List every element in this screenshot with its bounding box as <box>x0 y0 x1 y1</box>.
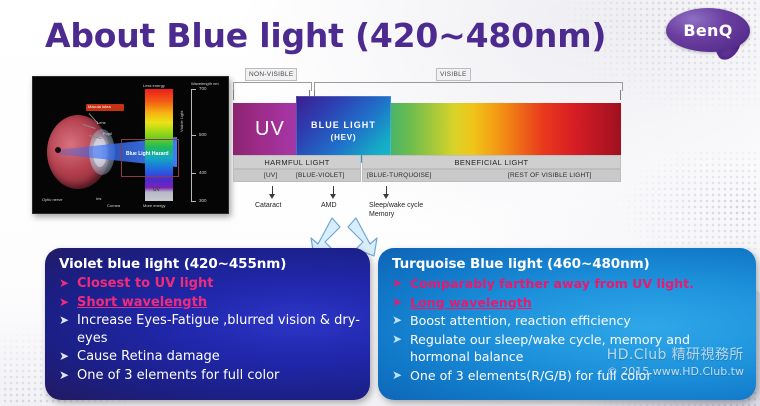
bullet-arrow-icon: ➤ <box>59 275 69 293</box>
bracket-label-non-visible: NON-VISIBLE <box>245 68 297 81</box>
blue-light-hazard-label: Blue Light Hazard <box>126 151 169 157</box>
bullet-arrow-icon: ➤ <box>392 312 402 330</box>
more-energy-label: More energy <box>143 203 165 208</box>
bullet-arrow-icon: ➤ <box>392 275 402 293</box>
bracket-tick <box>233 90 234 100</box>
uv-region-label: UV <box>255 118 285 141</box>
list-item-text: One of 3 elements(R/G/B) for full color <box>410 368 652 383</box>
sub-label-rest-visible: [REST OF VISIBLE LIGHT] <box>508 172 592 179</box>
benq-logo: BenQ <box>666 8 750 56</box>
visible-light-label: Visible Light <box>179 111 184 133</box>
macula-lutea-label: Macula lutea <box>88 104 111 109</box>
list-item-text: Cause Retina damage <box>77 349 220 364</box>
list-item: ➤ Comparably farther away from UV light. <box>388 275 748 293</box>
list-item: ➤ Increase Eyes-Fatigue ,blurred vision … <box>55 312 362 347</box>
uv-band-label: UV <box>153 187 160 193</box>
list-item-text: Short wavelength <box>77 295 207 310</box>
list-item: ➤ Long wavelength <box>388 294 748 312</box>
sub-band-visible: [BLUE-TURQUOISE] [REST OF VISIBLE LIGHT] <box>362 169 621 182</box>
effect-arrow-sleep <box>382 186 391 199</box>
list-item-text: Increase Eyes-Fatigue ,blurred vision & … <box>77 313 360 346</box>
light-spectrum-diagram: NON-VISIBLE VISIBLE UV BLUE LIGHT (HEV) … <box>233 74 621 224</box>
effect-label-amd: AMD <box>321 201 337 210</box>
blue-light-hev-box: BLUE LIGHT (HEV) <box>296 96 391 163</box>
bullet-arrow-icon: ➤ <box>392 294 402 312</box>
violet-panel-heading: Violet blue light (420~455nm) <box>59 256 286 272</box>
hev-title-line1: BLUE LIGHT <box>296 120 391 130</box>
axis-tick-label-700: 700 <box>199 86 207 91</box>
beneficial-light-band: BENEFICIAL LIGHT <box>362 155 621 169</box>
bullet-arrow-icon: ➤ <box>59 348 69 366</box>
bullet-arrow-icon: ➤ <box>392 367 402 385</box>
axis-tick <box>191 89 196 90</box>
axis-tick-label-500: 500 <box>199 132 207 137</box>
violet-panel-list: ➤ Closest to UV light ➤ Short wavelength… <box>55 275 362 385</box>
bracket-tick <box>620 90 621 100</box>
bullet-arrow-icon: ➤ <box>59 312 69 330</box>
macula-point <box>55 147 61 153</box>
page-title: About Blue light (420~480nm) <box>45 16 606 55</box>
logo-wordmark: BenQ <box>666 8 750 52</box>
axis-tick-label-300: 300 <box>199 198 207 203</box>
list-item: ➤ Boost attention, reaction efficiency <box>388 312 748 330</box>
list-item: ➤ Short wavelength <box>55 294 362 312</box>
list-item: ➤ Closest to UV light <box>55 275 362 293</box>
sub-label-blue-turquoise: [BLUE-TURQUOISE] <box>367 172 432 179</box>
slide-canvas: About Blue light (420~480nm) BenQ Macula… <box>0 0 760 406</box>
effect-arrow-amd <box>329 186 338 199</box>
sub-label-uv: [UV] <box>264 172 277 179</box>
list-item: ➤ Cause Retina damage <box>55 348 362 366</box>
bullet-arrow-icon: ➤ <box>392 331 402 349</box>
bracket-non-visible <box>233 82 312 91</box>
axis-tick <box>191 201 196 202</box>
list-item-text: Boost attention, reaction efficiency <box>410 313 631 328</box>
callout-lens: Lens <box>97 120 106 125</box>
effect-arrow-cataract <box>268 186 277 199</box>
effect-label-sleep-wake: Sleep/wake cycle <box>369 201 423 210</box>
list-item-text: Regulate our sleep/wake cycle, memory an… <box>410 332 690 365</box>
macula-lutea-tag: Macula lutea <box>86 104 124 111</box>
callout-cornea: Cornea <box>107 203 120 208</box>
list-item: ➤ One of 3 elements for full color <box>55 367 362 385</box>
axis-tick-label-400: 400 <box>199 170 207 175</box>
list-item-text: Closest to UV light <box>77 276 213 291</box>
harmful-light-band: HARMFUL LIGHT <box>233 155 361 169</box>
callout-pupil: Pupil <box>103 131 112 136</box>
callout-iris: Iris <box>96 196 101 201</box>
list-item: ➤ One of 3 elements(R/G/B) for full colo… <box>388 367 748 385</box>
effect-label-cataract: Cataract <box>255 201 281 210</box>
sub-label-blue-violet: [BLUE-VIOLET] <box>296 172 344 179</box>
sub-band-uv: [UV] [BLUE-VIOLET] <box>233 169 361 182</box>
less-energy-label: Less energy <box>143 83 165 88</box>
eye-anatomy-figure: Macula lutea Lens Pupil Iris Cornea Opti… <box>32 76 229 214</box>
list-item: ➤ Regulate our sleep/wake cycle, memory … <box>388 331 748 366</box>
hev-title-line2: (HEV) <box>296 133 391 142</box>
axis-tick <box>191 135 196 136</box>
bracket-visible <box>314 82 623 91</box>
spectrum-gradient-bar <box>233 103 621 155</box>
list-item-text: Long wavelength <box>410 295 532 310</box>
bullet-arrow-icon: ➤ <box>59 367 69 385</box>
wavelength-axis <box>191 89 192 201</box>
list-item-text: One of 3 elements for full color <box>77 368 279 383</box>
bullet-arrow-icon: ➤ <box>59 294 69 312</box>
axis-tick <box>191 173 196 174</box>
turquoise-panel-list: ➤ Comparably farther away from UV light.… <box>388 275 748 385</box>
turquoise-blue-light-panel: Turquoise Blue light (460~480nm) ➤ Compa… <box>378 248 756 400</box>
callout-optic-nerve: Optic nerve <box>42 197 62 202</box>
bracket-label-visible: VISIBLE <box>436 68 471 81</box>
turquoise-panel-heading: Turquoise Blue light (460~480nm) <box>392 256 650 272</box>
list-item-text: Comparably farther away from UV light. <box>410 276 694 291</box>
violet-blue-light-panel: Violet blue light (420~455nm) ➤ Closest … <box>45 248 370 400</box>
hazard-region-outline <box>121 139 179 177</box>
